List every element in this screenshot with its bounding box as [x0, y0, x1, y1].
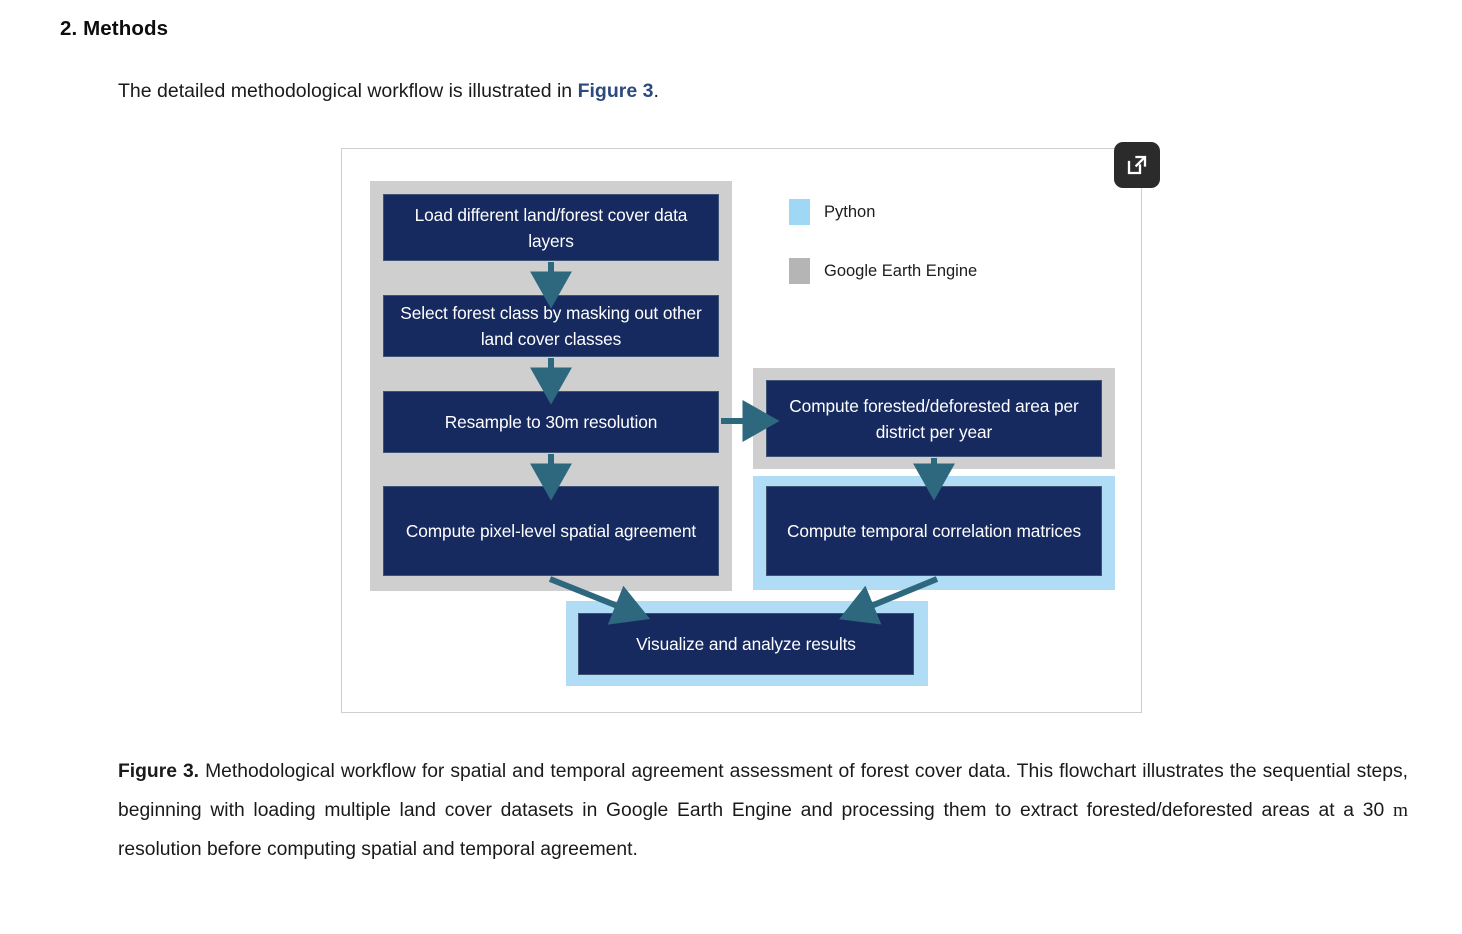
intro-paragraph: The detailed methodological workflow is …: [118, 77, 659, 105]
flowchart: Load different land/forest cover data la…: [342, 149, 1143, 714]
google-earth-engine-color-swatch-icon: [789, 258, 810, 284]
figure-legend: Python Google Earth Engine: [789, 199, 977, 317]
node-visualize-results[interactable]: Visualize and analyze results: [578, 613, 914, 675]
python-color-swatch-icon: [789, 199, 810, 225]
figure-reference-link[interactable]: Figure 3: [578, 80, 654, 102]
intro-text-after: .: [653, 80, 658, 102]
figure-caption: Figure 3. Methodological workflow for sp…: [118, 752, 1408, 869]
node-compute-spatial-agreement[interactable]: Compute pixel-level spatial agreement: [383, 486, 719, 576]
node-compute-area-per-district[interactable]: Compute forested/deforested area per dis…: [766, 380, 1102, 457]
legend-label-google-earth-engine: Google Earth Engine: [824, 262, 977, 281]
node-load-data-layers[interactable]: Load different land/forest cover data la…: [383, 194, 719, 261]
legend-item-google-earth-engine: Google Earth Engine: [789, 258, 977, 284]
caption-text-part2: resolution before computing spatial and …: [118, 839, 638, 860]
caption-unit: m: [1393, 800, 1408, 821]
legend-label-python: Python: [824, 203, 875, 222]
figure-container: Load different land/forest cover data la…: [341, 148, 1142, 713]
node-select-forest-class[interactable]: Select forest class by masking out other…: [383, 295, 719, 357]
intro-text-before: The detailed methodological workflow is …: [118, 80, 578, 102]
caption-label: Figure 3.: [118, 761, 199, 782]
node-resample-30m[interactable]: Resample to 30m resolution: [383, 391, 719, 453]
section-heading: 2. Methods: [60, 17, 168, 41]
caption-text-part1: Methodological workflow for spatial and …: [118, 761, 1408, 821]
legend-item-python: Python: [789, 199, 977, 225]
node-compute-temporal-correlation[interactable]: Compute temporal correlation matrices: [766, 486, 1102, 576]
